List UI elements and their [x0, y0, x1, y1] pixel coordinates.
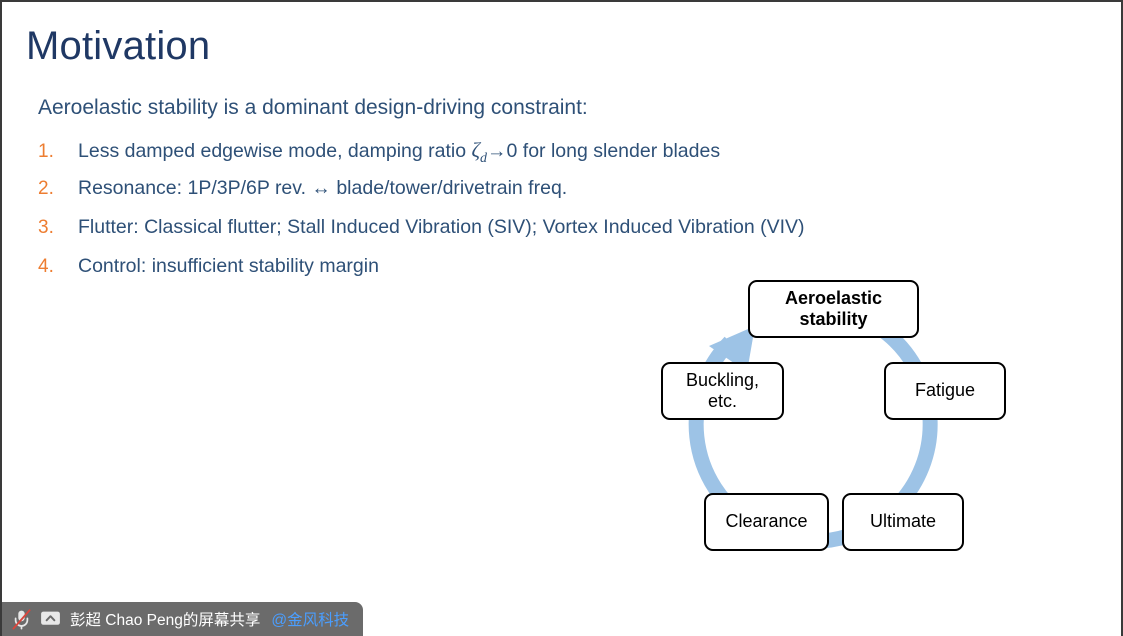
list-item-text-before: Less damped edgewise mode, damping ratio: [78, 140, 472, 162]
list-item-label: Control: insufficient stability margin: [78, 255, 379, 278]
screen-share-icon[interactable]: [40, 610, 61, 628]
cycle-node-label: Clearance: [725, 511, 807, 532]
list-item-marker: 4.: [38, 256, 78, 278]
cycle-node-label: Buckling, etc.: [686, 370, 759, 412]
list-item-label: Flutter: Classical flutter; Stall Induce…: [78, 216, 805, 239]
cycle-node-label-line2: etc.: [708, 391, 737, 411]
zeta-subscript: d: [480, 151, 487, 166]
share-owner-label: 彭超 Chao Peng的屏幕共享: [70, 608, 260, 630]
cycle-node-fatigue[interactable]: Fatigue: [884, 362, 1006, 420]
list-item: 2. Resonance: 1P/3P/6P rev. ↔ blade/towe…: [38, 177, 938, 216]
cycle-node-label: Aeroelastic stability: [785, 288, 882, 330]
cycle-node-label-line2: stability: [799, 309, 867, 329]
cycle-node-buckling[interactable]: Buckling, etc.: [661, 362, 784, 420]
screen-share-status-bar: 彭超 Chao Peng的屏幕共享 @金风科技: [2, 602, 363, 636]
cycle-node-clearance[interactable]: Clearance: [704, 493, 829, 551]
cycle-node-label-line1: Aeroelastic: [785, 288, 882, 308]
cycle-node-aeroelastic[interactable]: Aeroelastic stability: [748, 280, 919, 338]
cycle-node-ultimate[interactable]: Ultimate: [842, 493, 964, 551]
cycle-node-label-line1: Buckling,: [686, 370, 759, 390]
list-item-marker: 3.: [38, 217, 78, 239]
microphone-muted-icon[interactable]: [12, 609, 31, 630]
list-item: 1. Less damped edgewise mode, damping ra…: [38, 138, 938, 177]
list-item-label: Resonance: 1P/3P/6P rev. ↔ blade/tower/d…: [78, 177, 567, 200]
list-item-text-after: →0 for long slender blades: [487, 140, 720, 162]
list-item-label: Less damped edgewise mode, damping ratio…: [78, 138, 720, 167]
list-item-marker: 2.: [38, 178, 78, 200]
lead-sentence: Aeroelastic stability is a dominant desi…: [38, 96, 588, 120]
cycle-node-label: Fatigue: [915, 380, 975, 401]
zeta-symbol: ζ: [472, 138, 481, 162]
slide-canvas: Motivation Aeroelastic stability is a do…: [0, 0, 1123, 636]
page-title: Motivation: [26, 24, 210, 68]
cycle-diagram: Aeroelastic stability Fatigue Ultimate C…: [647, 264, 1047, 564]
list-item: 3. Flutter: Classical flutter; Stall Ind…: [38, 216, 938, 255]
share-company-handle: @金风科技: [271, 608, 349, 630]
cycle-node-label: Ultimate: [870, 511, 936, 532]
list-item-marker: 1.: [38, 141, 78, 163]
